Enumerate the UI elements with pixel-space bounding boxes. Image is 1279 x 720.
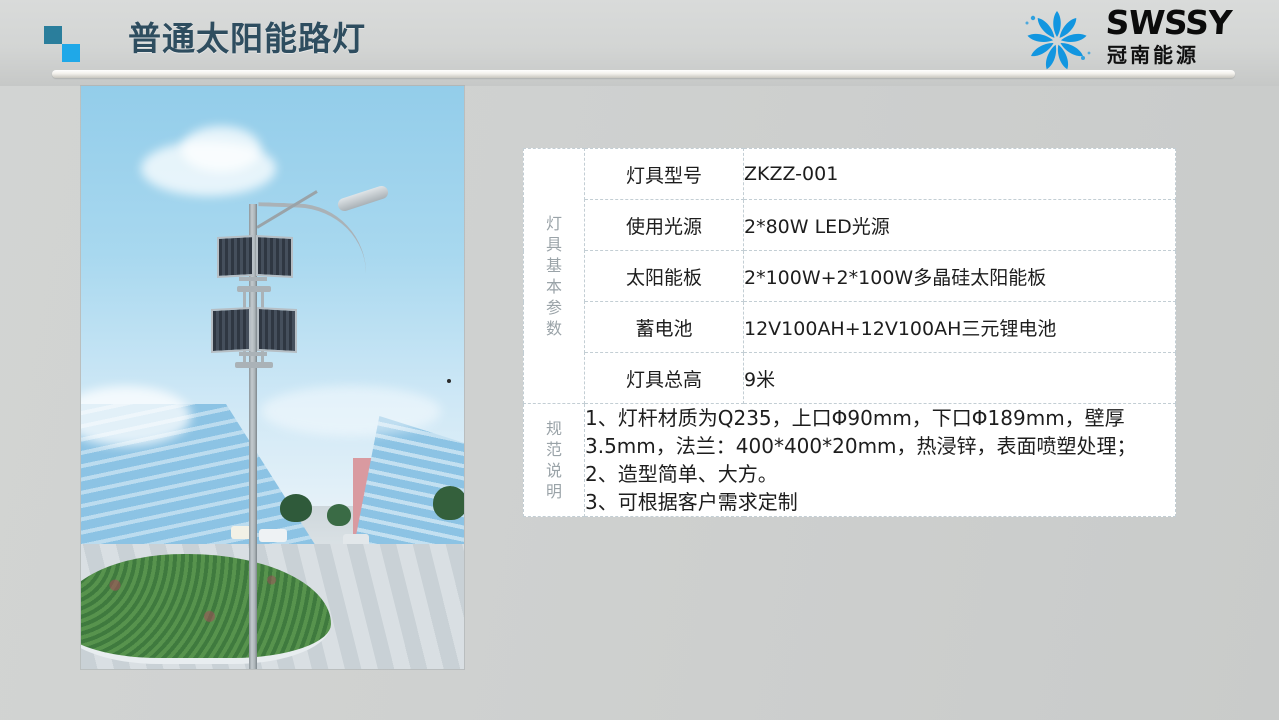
table-row: 蓄电池 12V100AH+12V100AH三元锂电池 [524, 302, 1176, 353]
spec-note-line: 1、灯杆材质为Q235，上口Φ90mm，下口Φ189mm，壁厚3.5mm，法兰：… [585, 404, 1175, 460]
specification-table: 灯 具 基 本 参 数 灯具型号 ZKZZ-001 使用光源 2*80W LED… [523, 148, 1176, 517]
panel-bracket [237, 286, 271, 292]
photo-tree [327, 504, 351, 526]
panel-bracket [239, 352, 267, 356]
spec-value: ZKZZ-001 [744, 149, 1176, 200]
photo-car [259, 529, 287, 542]
spec-key: 太阳能板 [585, 251, 744, 302]
spec-value: 9米 [744, 353, 1176, 404]
spec-key: 灯具型号 [585, 149, 744, 200]
square-light-icon [62, 44, 80, 62]
logo-text-block: SWSSY 冠南能源 [1107, 6, 1267, 70]
solar-panel [257, 307, 297, 353]
spec-value: 2*100W+2*100W多晶硅太阳能板 [744, 251, 1176, 302]
spec-note-line: 3、可根据客户需求定制 [585, 488, 1175, 516]
logo-subtitle: 冠南能源 [1107, 42, 1267, 70]
table-row: 灯 具 基 本 参 数 灯具型号 ZKZZ-001 [524, 149, 1176, 200]
page-title: 普通太阳能路灯 [128, 17, 366, 61]
table-row: 太阳能板 2*100W+2*100W多晶硅太阳能板 [524, 251, 1176, 302]
photo-cloud [181, 126, 261, 172]
table-row-notes: 规 范 说 明 1、灯杆材质为Q235，上口Φ90mm，下口Φ189mm，壁厚3… [524, 404, 1176, 517]
spec-key: 灯具总高 [585, 353, 744, 404]
spec-note-line: 2、造型简单、大方。 [585, 460, 1175, 488]
solar-street-lamp-photo [81, 86, 464, 669]
spec-value: 12V100AH+12V100AH三元锂电池 [744, 302, 1176, 353]
spec-notes: 1、灯杆材质为Q235，上口Φ90mm，下口Φ189mm，壁厚3.5mm，法兰：… [585, 404, 1176, 517]
spec-key: 蓄电池 [585, 302, 744, 353]
spec-key: 使用光源 [585, 200, 744, 251]
table-row: 灯具总高 9米 [524, 353, 1176, 404]
photo-speck [447, 379, 451, 383]
spec-value: 2*80W LED光源 [744, 200, 1176, 251]
petal-flower-emblem-icon [1007, 6, 1107, 76]
group-label-basic-params: 灯 具 基 本 参 数 [524, 149, 585, 404]
panel-bracket [235, 362, 273, 368]
photo-cloud [261, 386, 441, 436]
page-header: 普通太阳能路灯 [0, 0, 1279, 86]
solar-panel [217, 235, 254, 278]
solar-panel [256, 235, 293, 278]
group-label-spec-notes: 规 范 说 明 [524, 404, 585, 517]
solar-panel [211, 307, 251, 353]
table-row: 使用光源 2*80W LED光源 [524, 200, 1176, 251]
decorative-squares [44, 26, 98, 66]
logo-wordmark: SWSSY [1105, 6, 1267, 40]
square-dark-icon [44, 26, 62, 44]
panel-bracket [239, 277, 267, 281]
photo-tree [433, 486, 464, 520]
brand-logo: SWSSY 冠南能源 [1007, 4, 1267, 78]
photo-tree [280, 494, 312, 522]
